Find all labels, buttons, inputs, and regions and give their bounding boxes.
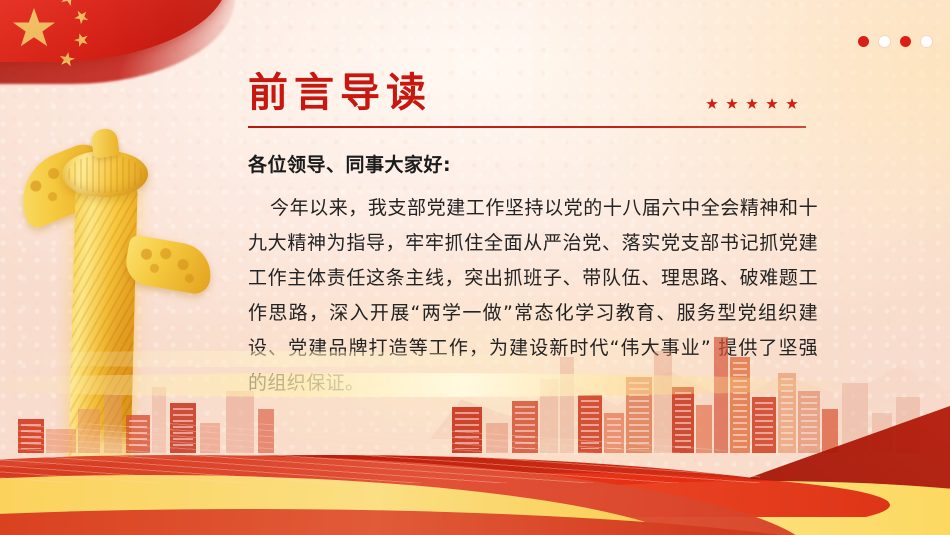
building (226, 391, 254, 453)
building (486, 423, 508, 453)
building (696, 405, 712, 453)
deco-star-2-icon (726, 98, 738, 110)
building (626, 377, 652, 453)
building (798, 391, 820, 453)
building (822, 409, 838, 453)
salutation-text: 各位领导、同事大家好: (248, 150, 818, 177)
page-indicator-dots[interactable] (858, 36, 932, 47)
dot-2-icon[interactable] (879, 36, 890, 47)
flag-star-large (12, 8, 56, 50)
building (560, 357, 574, 453)
china-flag-icon (0, 0, 240, 92)
building (126, 415, 150, 453)
building (170, 403, 196, 453)
building (578, 395, 602, 453)
building (654, 351, 672, 453)
building (540, 379, 558, 453)
flag-star-small-2 (71, 7, 92, 27)
dot-3-icon[interactable] (900, 36, 911, 47)
building (258, 409, 274, 453)
deco-star-5-icon (786, 98, 798, 110)
deco-star-1-icon (706, 98, 718, 110)
pillar-beast-ornament (90, 127, 120, 158)
building (512, 401, 538, 453)
building (104, 393, 122, 453)
dot-1-icon[interactable] (858, 36, 869, 47)
building (730, 357, 750, 453)
city-skyline (0, 323, 950, 453)
building (78, 409, 100, 453)
building (714, 337, 728, 453)
building (778, 373, 796, 453)
flag-star-small-3 (72, 31, 91, 49)
building (896, 397, 920, 453)
building (604, 413, 624, 453)
deco-star-4-icon (766, 98, 778, 110)
building (152, 387, 166, 453)
building (46, 429, 76, 453)
building (842, 383, 868, 453)
building (452, 407, 482, 453)
building (752, 397, 776, 453)
pillar-cap (62, 151, 148, 197)
slide-canvas: 前言导读 各位领导、同事大家好: 今年以来，我支部党建工作坚持以党的十八届六中全… (0, 0, 950, 535)
ribbon-red-core (0, 465, 950, 517)
flag-star-small-1 (58, 0, 80, 9)
deco-star-3-icon (746, 98, 758, 110)
building (200, 423, 220, 453)
building (872, 413, 892, 453)
page-title: 前言导读 (248, 73, 432, 113)
pillar-cloud-wing-right (122, 234, 215, 296)
dot-4-icon[interactable] (921, 36, 932, 47)
title-underline (248, 126, 806, 128)
building (18, 419, 44, 453)
building (672, 387, 694, 453)
title-stars-decoration (706, 98, 798, 110)
